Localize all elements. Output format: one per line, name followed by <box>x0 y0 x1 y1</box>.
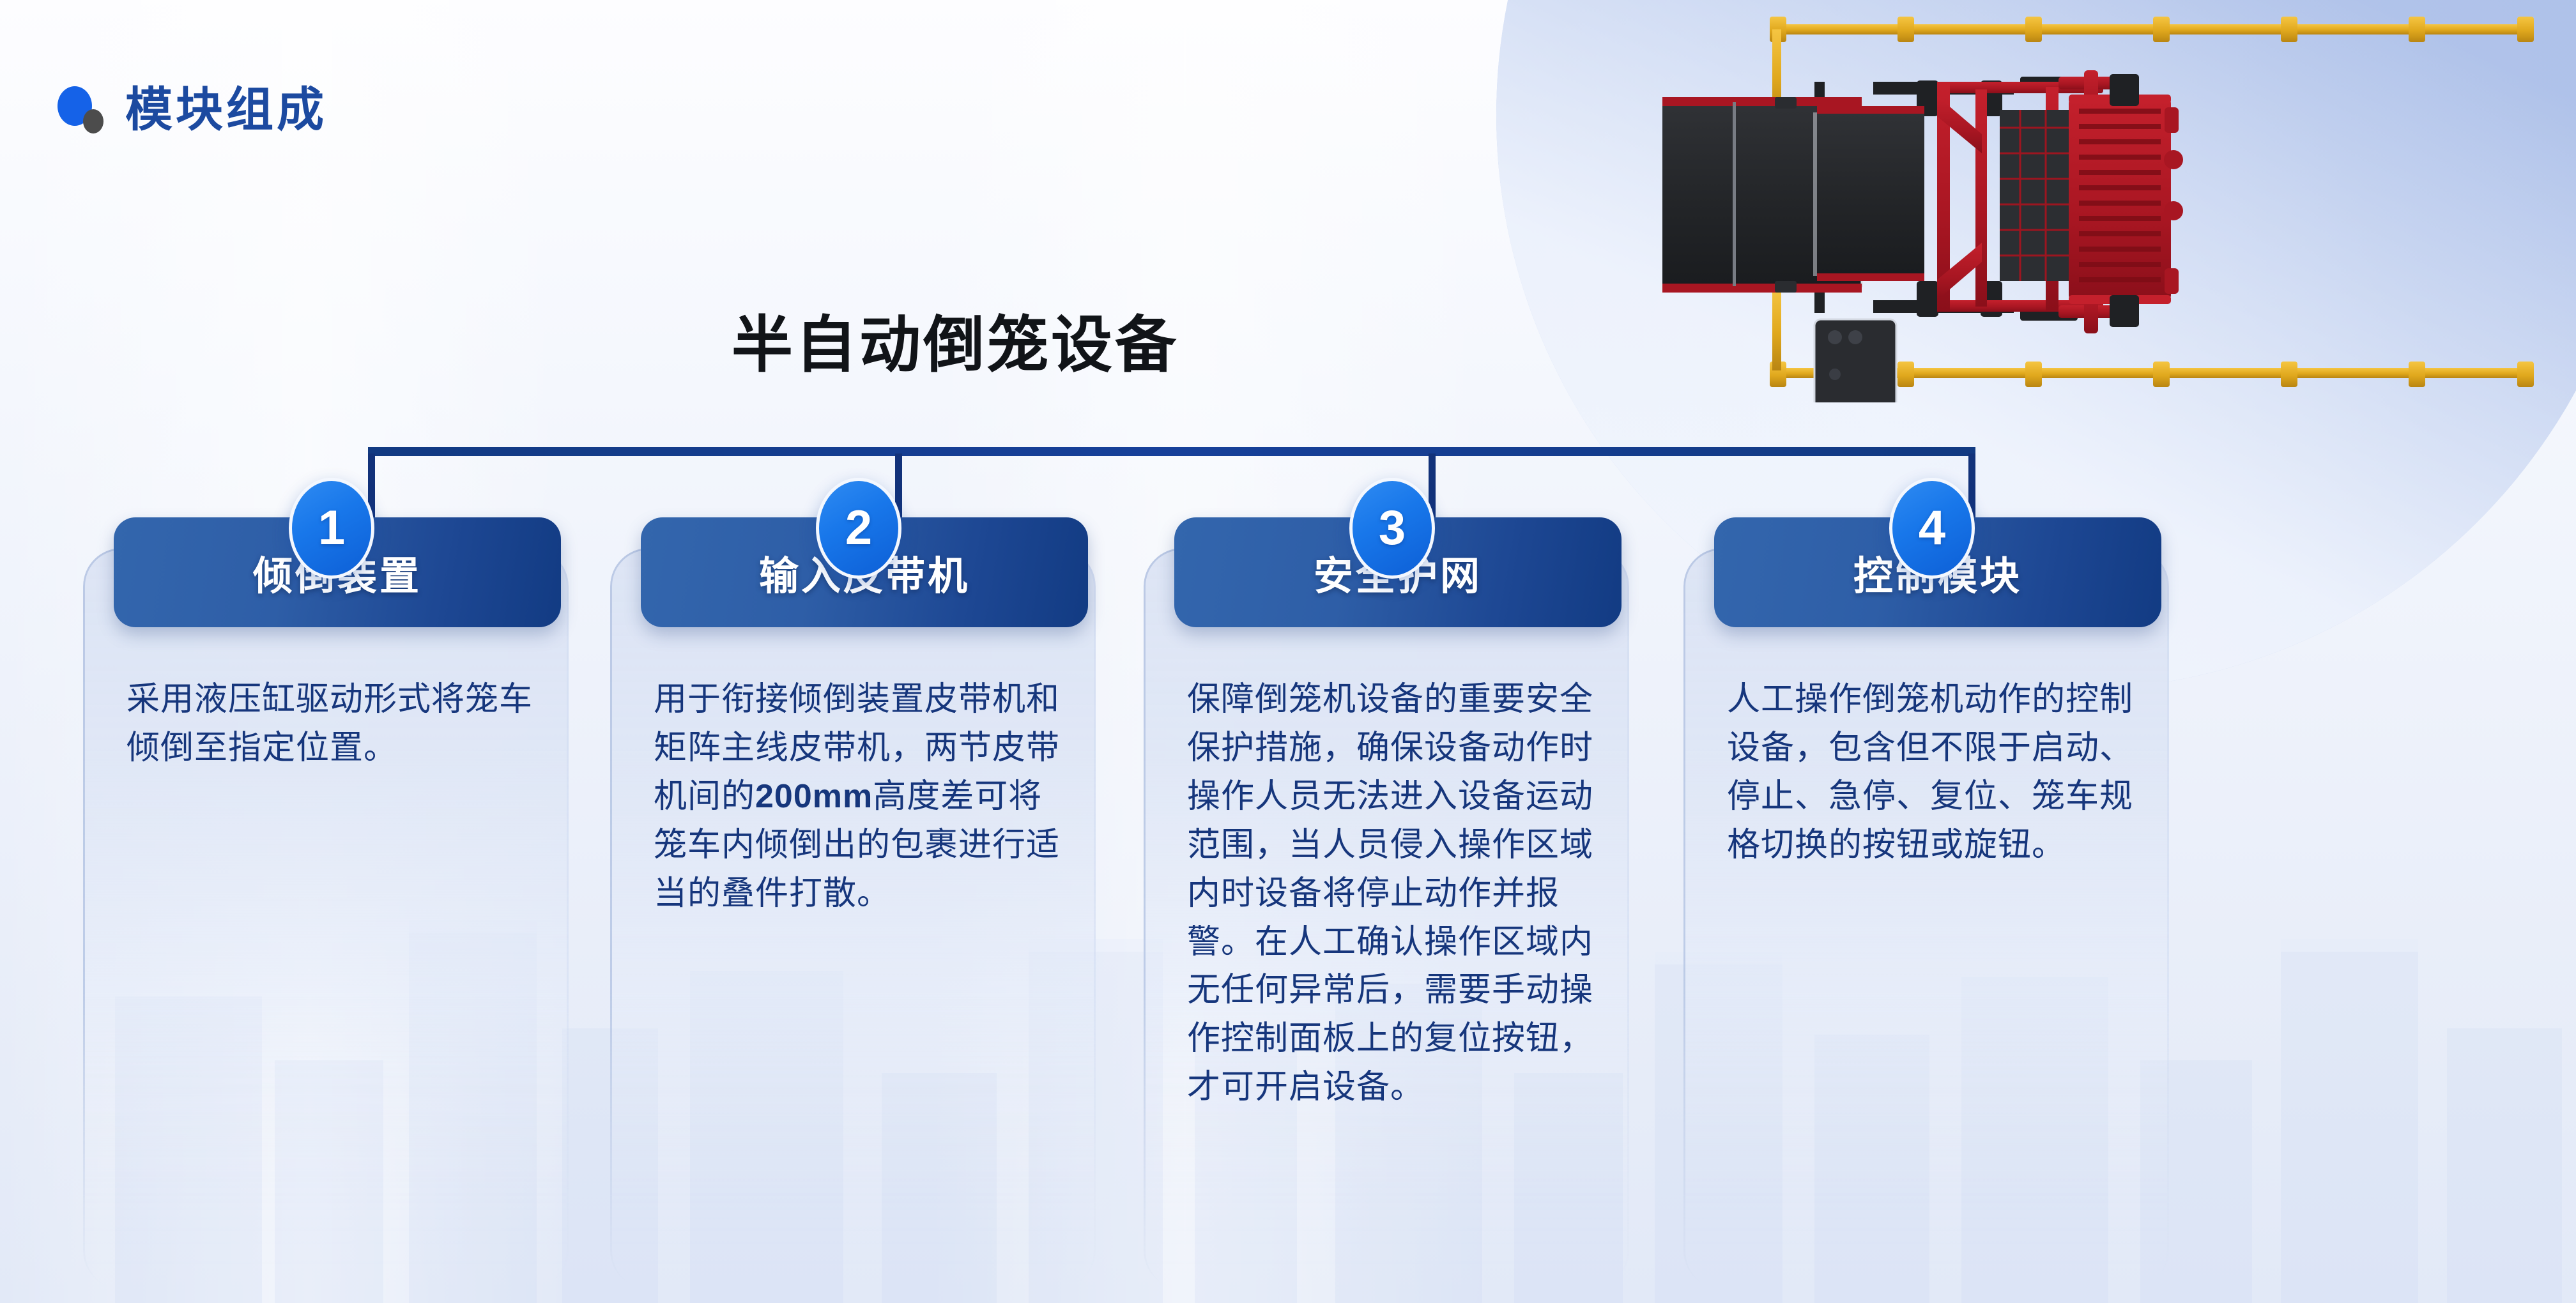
card-1-number-badge: 1 <box>289 478 374 579</box>
bullet-dots-icon <box>50 75 125 136</box>
equipment-render-illustration <box>1662 0 2570 402</box>
page-title: 模块组成 <box>125 72 327 140</box>
slide-canvas: 模块组成 半自动倒笼设备 <box>0 0 2576 1303</box>
card-3-number-badge: 3 <box>1349 478 1435 579</box>
card-3-description: 保障倒笼机设备的重要安全保护措施，确保设备动作时操作人员无法进入设备运动范围，当… <box>1187 676 1596 1112</box>
card-1-number: 1 <box>318 504 345 552</box>
card-3-number: 3 <box>1379 504 1406 552</box>
card-4-number: 4 <box>1919 504 1945 552</box>
card-2-body-panel <box>610 548 1096 1289</box>
card-2-number-badge: 2 <box>816 478 901 579</box>
card-4-description: 人工操作倒笼机动作的控制设备，包含但不限于启动、停止、急停、复位、笼车规格切换的… <box>1727 676 2136 870</box>
dot-secondary-icon <box>83 109 103 133</box>
card-1-description: 采用液压缸驱动形式将笼车倾倒至指定位置。 <box>126 676 535 773</box>
control-cabinet <box>1814 319 1896 402</box>
card-1-body-panel <box>83 548 569 1289</box>
slide-header: 模块组成 <box>50 70 327 141</box>
card-2-number: 2 <box>845 504 872 552</box>
card-4-number-badge: 4 <box>1889 478 1975 579</box>
main-title: 半自动倒笼设备 <box>0 295 1910 384</box>
conveyor-belt-section-2 <box>1817 106 1924 281</box>
cage-trolley <box>2000 95 2183 304</box>
module-card-3[interactable]: 安全护网 3 保障倒笼机设备的重要安全保护措施，确保设备动作时操作人员无法进入设… <box>1131 505 1642 1303</box>
connector-horizontal-bar <box>368 447 1975 456</box>
card-4-body-panel <box>1683 548 2169 1289</box>
card-2-description: 用于衔接倾倒装置皮带机和矩阵主线皮带机，两节皮带机间的200mm高度差可将笼车内… <box>654 676 1062 918</box>
module-card-2[interactable]: 输入皮带机 2 用于衔接倾倒装置皮带机和矩阵主线皮带机，两节皮带机间的200mm… <box>597 505 1108 1303</box>
module-card-4[interactable]: 控制模块 4 人工操作倒笼机动作的控制设备，包含但不限于启动、停止、急停、复位、… <box>1671 505 2182 1303</box>
module-card-1[interactable]: 倾倒装置 1 采用液压缸驱动形式将笼车倾倒至指定位置。 <box>70 505 581 1303</box>
modules-card-row: 倾倒装置 1 采用液压缸驱动形式将笼车倾倒至指定位置。 输入皮带机 2 用于衔接… <box>0 505 2576 1303</box>
